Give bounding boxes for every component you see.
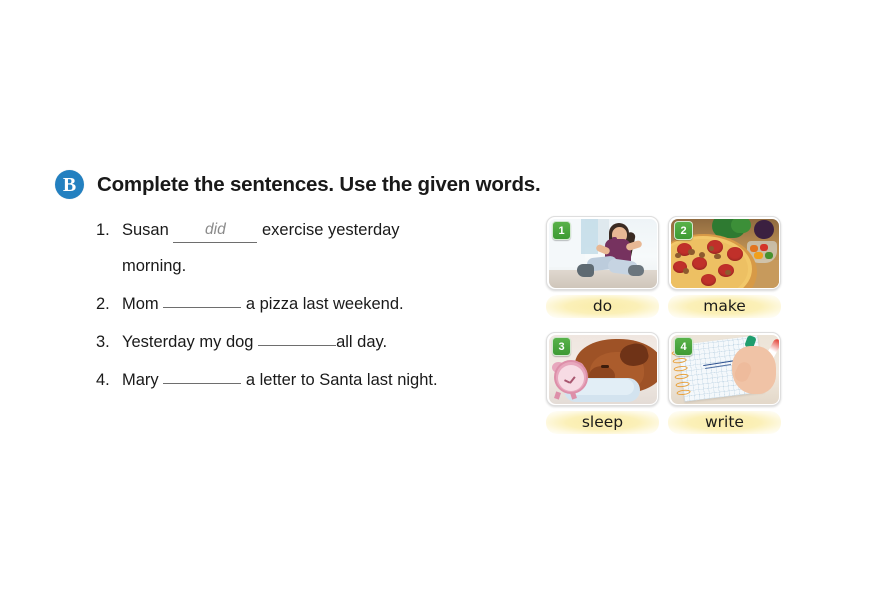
picture-card[interactable]: 3 bbox=[546, 332, 659, 406]
sentence-text: Mom a pizza last weekend. bbox=[122, 292, 404, 316]
card-number-badge: 4 bbox=[674, 337, 693, 356]
section-header: B Complete the sentences. Use the given … bbox=[55, 170, 540, 199]
instruction-text: Complete the sentences. Use the given wo… bbox=[97, 173, 540, 197]
sentence-number: 2. bbox=[96, 292, 122, 316]
sentence-text: Yesterday my dog all day. bbox=[122, 330, 387, 354]
sentence-list: 1. Susan did exercise yesterday morning.… bbox=[96, 218, 536, 406]
sentence-text-after: a letter to Santa last night. bbox=[246, 371, 438, 389]
sentence-text-before: Yesterday my dog bbox=[122, 333, 253, 351]
word-bank-label: write bbox=[668, 411, 781, 434]
sentence-text-before: Mary bbox=[122, 371, 159, 389]
word-bank-item-sleep[interactable]: 3 sleep bbox=[546, 332, 659, 434]
word-bank-label: sleep bbox=[546, 411, 659, 434]
sentence-number: 1. bbox=[96, 218, 122, 242]
picture-card[interactable]: 1 bbox=[546, 216, 659, 290]
word-bank-label: make bbox=[668, 295, 781, 318]
word-bank-item-do[interactable]: 1 do bbox=[546, 216, 659, 318]
picture-card[interactable]: 2 bbox=[668, 216, 781, 290]
sentence-text-before: Susan bbox=[122, 221, 169, 239]
word-bank-item-write[interactable]: 4 write bbox=[668, 332, 781, 434]
sentence-text: Mary a letter to Santa last night. bbox=[122, 368, 438, 392]
word-bank-item-make[interactable]: 2 bbox=[668, 216, 781, 318]
sentence-item-3: 3. Yesterday my dog all day. bbox=[96, 330, 536, 354]
sentence-number: 3. bbox=[96, 330, 122, 354]
picture-card[interactable]: 4 bbox=[668, 332, 781, 406]
answer-blank-4[interactable] bbox=[163, 383, 241, 384]
sentence-text-after: exercise yesterday bbox=[262, 221, 400, 239]
sentence-item-2: 2. Mom a pizza last weekend. bbox=[96, 292, 536, 316]
sentence-text-after: all day. bbox=[336, 333, 387, 351]
sentence-text-line2: morning. bbox=[122, 254, 536, 278]
section-letter-badge: B bbox=[55, 170, 84, 199]
word-bank-grid: 1 do 2 bbox=[546, 216, 781, 434]
sentence-item-1: 1. Susan did exercise yesterday morning. bbox=[96, 218, 536, 278]
card-number-badge: 3 bbox=[552, 337, 571, 356]
sentence-text-before: Mom bbox=[122, 295, 159, 313]
answer-blank-3[interactable] bbox=[258, 345, 336, 346]
answer-blank-2[interactable] bbox=[163, 307, 241, 308]
answer-blank-1[interactable]: did bbox=[173, 218, 257, 243]
word-bank-label: do bbox=[546, 295, 659, 318]
sentence-text-after: a pizza last weekend. bbox=[246, 295, 404, 313]
worksheet-page: B Complete the sentences. Use the given … bbox=[0, 0, 873, 612]
sentence-number: 4. bbox=[96, 368, 122, 392]
sentence-item-4: 4. Mary a letter to Santa last night. bbox=[96, 368, 536, 392]
card-number-badge: 1 bbox=[552, 221, 571, 240]
card-number-badge: 2 bbox=[674, 221, 693, 240]
sentence-text: Susan did exercise yesterday bbox=[122, 218, 400, 244]
